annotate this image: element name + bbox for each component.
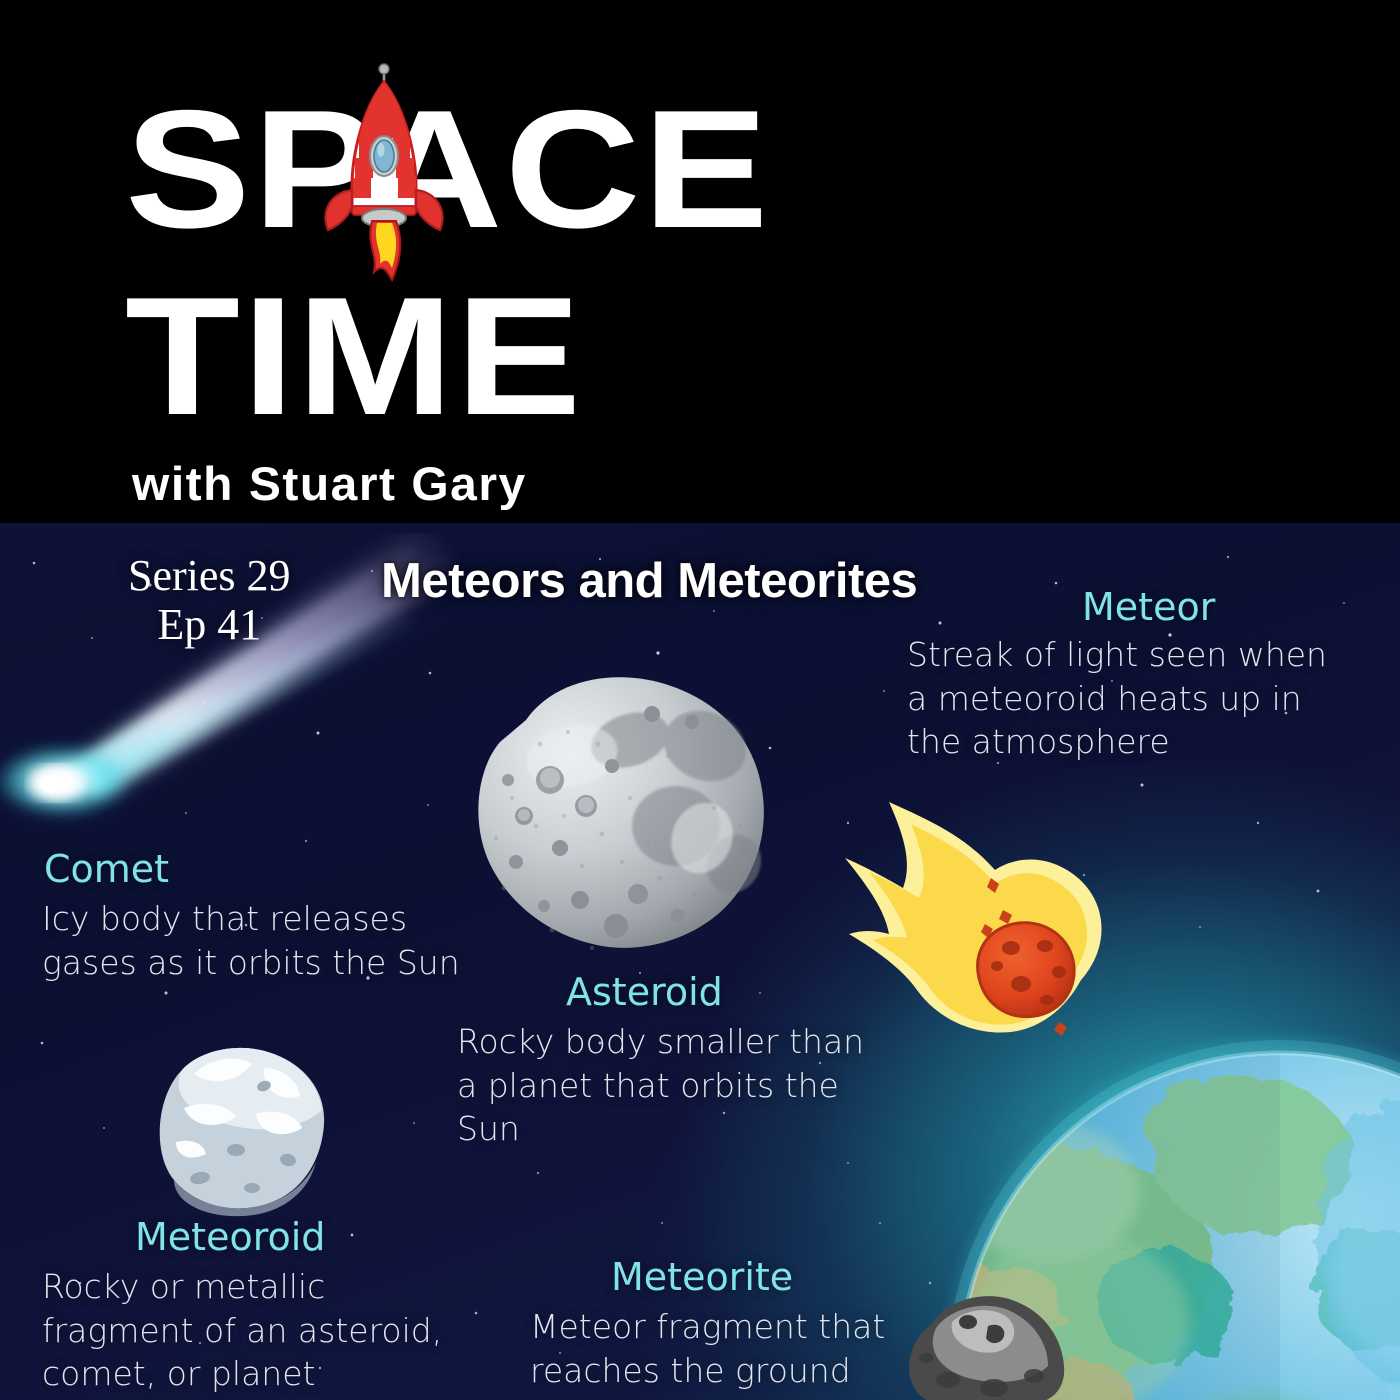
- series-label: Series 29: [128, 551, 291, 600]
- podcast-episode-artwork: SPACE TIME with Stuart Gary: [0, 0, 1400, 1400]
- meteorite-rock-icon: [902, 1288, 1077, 1400]
- description-meteorite: Meteor fragment that reaches the ground: [530, 1305, 900, 1392]
- label-asteroid: Asteroid: [566, 973, 723, 1013]
- episode-badge: Series 29 Ep 41: [128, 551, 291, 650]
- page-title: Meteors and Meteorites: [381, 553, 917, 609]
- description-meteor: Streak of light seen when a meteoroid he…: [907, 633, 1347, 764]
- brand-subtitle: with Stuart Gary: [132, 460, 527, 507]
- rocket-icon: [322, 58, 452, 288]
- space-diagram: Meteors and Meteorites Series 29 Ep 41 M…: [0, 523, 1400, 1400]
- brand-title-time: TIME: [125, 272, 583, 440]
- label-comet: Comet: [44, 850, 169, 890]
- label-meteor: Meteor: [1082, 588, 1215, 628]
- fireball-icon: [845, 748, 1145, 1058]
- episode-label: Ep 41: [128, 600, 291, 649]
- label-meteorite: Meteorite: [611, 1258, 793, 1298]
- label-meteoroid: Meteoroid: [135, 1218, 325, 1258]
- meteoroid-rock-icon: [140, 1038, 340, 1223]
- description-asteroid: Rocky body smaller than a planet that or…: [457, 1020, 887, 1151]
- description-meteoroid: Rocky or metallic fragment of an asteroi…: [42, 1265, 487, 1396]
- brand-header: SPACE TIME with Stuart Gary: [0, 0, 1400, 523]
- description-comet: Icy body that releases gases as it orbit…: [42, 897, 462, 984]
- asteroid-icon: [452, 648, 792, 978]
